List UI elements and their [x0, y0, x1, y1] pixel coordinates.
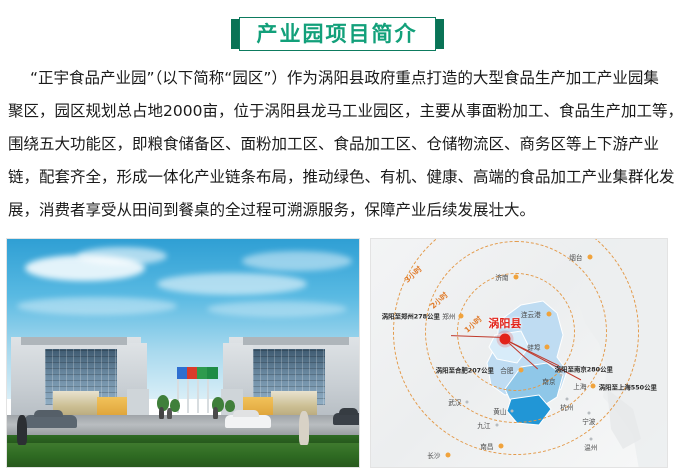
cloud — [242, 251, 352, 271]
center-marker-dot — [499, 334, 510, 345]
city-marker — [559, 374, 562, 377]
park-rendering-photo — [6, 238, 360, 468]
title-frame: 产业园项目简介 — [231, 17, 444, 51]
lawn — [7, 443, 359, 468]
city-marker — [546, 312, 551, 317]
city-marker — [565, 398, 568, 401]
title-bracket-left-icon — [231, 19, 239, 49]
person — [167, 408, 172, 419]
distance-label-zhengzhou: 涡阳至郑州278公里 — [382, 312, 440, 321]
cloud — [207, 301, 347, 317]
building-left-entrance — [97, 397, 127, 415]
person — [159, 407, 164, 419]
city-marker — [498, 444, 503, 449]
person — [299, 411, 309, 445]
city-label-ningbo: 宁波 — [582, 416, 595, 426]
city-marker — [445, 453, 450, 458]
building-right-cap — [243, 337, 349, 345]
distance-label-nanjing: 涡阳至南京280公里 — [555, 365, 613, 374]
city-label-wenzhou: 温州 — [584, 442, 597, 452]
city-marker — [465, 401, 468, 404]
city-marker — [458, 314, 463, 319]
building-left-canopy — [127, 389, 149, 417]
city-marker — [587, 255, 592, 260]
city-label-lianyungang: 连云港 — [521, 309, 541, 319]
flag-green2-icon — [207, 367, 218, 379]
city-label-wuhan: 武汉 — [448, 397, 461, 407]
building-right-podium — [271, 391, 317, 417]
person — [213, 407, 218, 419]
city-marker — [495, 424, 498, 427]
city-label-hangzhou: 杭州 — [560, 402, 573, 412]
description-line: 聚区，园区规划总占地2000亩，位于涡阳县龙马工业园区，主要从事面粉加工、食品生… — [8, 95, 674, 128]
description-line: 围绕五大功能区，即粮食储备区、面粉加工区、食品加工区、仓储物流区、商务区等上下游… — [8, 128, 674, 161]
cloud — [77, 247, 167, 265]
city-label-changsha: 长沙 — [427, 450, 440, 460]
city-marker — [510, 410, 513, 413]
city-label-hefei: 合肥 — [500, 365, 513, 375]
city-marker — [513, 275, 518, 280]
project-description: “正宇食品产业园”（以下简称“园区”）作为涡阳县政府重点打造的大型食品生产加工产… — [0, 62, 674, 227]
city-label-nanchang: 南昌 — [480, 441, 493, 451]
city-label-shanghai: 上海 — [573, 381, 586, 391]
center-city-label: 涡阳县 — [488, 315, 521, 331]
car — [225, 415, 271, 428]
city-marker — [544, 345, 549, 350]
building-left-cap — [21, 337, 127, 345]
page-title-bar: 产业园项目简介 — [0, 0, 674, 62]
city-marker — [590, 384, 595, 389]
page-title: 产业园项目简介 — [253, 24, 422, 45]
description-line: 链，配套齐全，形成一体化产业链条布局，推动绿色、有机、健康、高端的食品加工产业集… — [8, 161, 674, 194]
tree — [225, 400, 235, 412]
location-map: 3小时 2小时 1小时 涡阳县 涡阳至郑州278公里 涡阳至合肥207公里 涡阳… — [370, 238, 668, 468]
description-line: “正宇食品产业园”（以下简称“园区”）作为涡阳县政府重点打造的大型食品生产加工产… — [8, 62, 674, 95]
cloud — [17, 297, 177, 315]
city-label-jinan: 济南 — [495, 272, 508, 282]
media-row: 3小时 2小时 1小时 涡阳县 涡阳至郑州278公里 涡阳至合肥207公里 涡阳… — [0, 238, 674, 470]
city-label-jiujiang: 九江 — [477, 420, 490, 430]
distance-label-hefei: 涡阳至合肥207公里 — [436, 366, 494, 375]
city-label-zhengzhou: 郑州 — [442, 311, 455, 321]
description-line: 展，消费者享受从田间到餐桌的全过程可溯源服务，保障产业后续发展壮大。 — [8, 194, 674, 227]
city-label-nanjing: 南京 — [542, 376, 555, 386]
person — [17, 415, 27, 445]
cloud — [157, 273, 307, 295]
title-bracket-right-icon — [436, 19, 444, 49]
distance-label-shanghai: 涡阳至上海550公里 — [599, 383, 657, 392]
city-label-yantai: 烟台 — [569, 252, 582, 262]
city-label-huangshan: 黄山 — [493, 406, 506, 416]
city-marker — [589, 438, 592, 441]
city-marker — [518, 368, 523, 373]
car — [333, 413, 360, 425]
city-label-bengbu: 蚌埠 — [527, 342, 540, 352]
city-marker — [587, 412, 590, 415]
car — [25, 415, 77, 428]
